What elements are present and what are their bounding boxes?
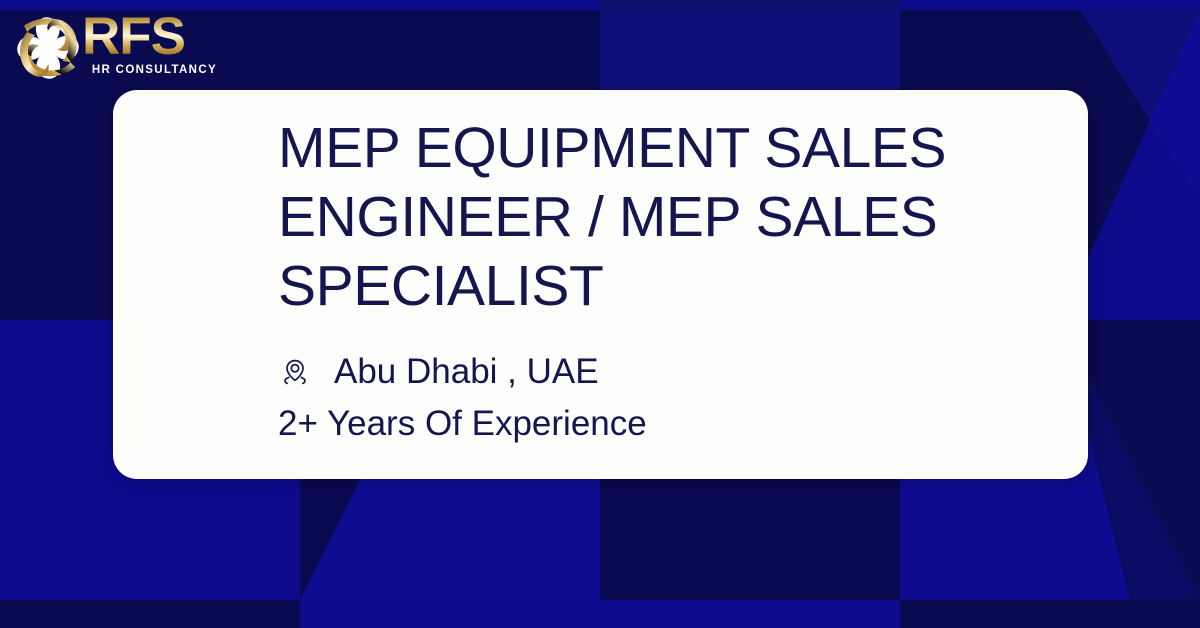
job-experience-label: 2+ Years Of Experience [278, 401, 647, 448]
brand-logo[interactable]: RFS HR CONSULTANCY [8, 6, 218, 90]
job-location-label: Abu Dhabi , UAE [334, 349, 599, 396]
brand-name: RFS [82, 10, 218, 63]
rfs-interlocking-ribbon-logo-icon [8, 8, 88, 88]
job-card-content: MEP EQUIPMENT SALES ENGINEER / MEP SALES… [278, 114, 1058, 448]
job-title: MEP EQUIPMENT SALES ENGINEER / MEP SALES… [278, 114, 1058, 321]
background-row-bottom-band [0, 600, 1200, 628]
job-experience-row: 2+ Years Of Experience [278, 401, 1058, 448]
brand-wordmark: RFS HR CONSULTANCY [82, 10, 218, 76]
job-card: MEP EQUIPMENT SALES ENGINEER / MEP SALES… [113, 90, 1088, 479]
job-meta-list: Abu Dhabi , UAE 2+ Years Of Experience [278, 349, 1058, 448]
job-location-row: Abu Dhabi , UAE [278, 349, 1058, 396]
job-poster: RFS HR CONSULTANCY MEP EQUIPMENT SALES E… [0, 0, 1200, 628]
location-pin-icon [278, 355, 312, 389]
brand-tagline: HR CONSULTANCY [82, 64, 218, 76]
